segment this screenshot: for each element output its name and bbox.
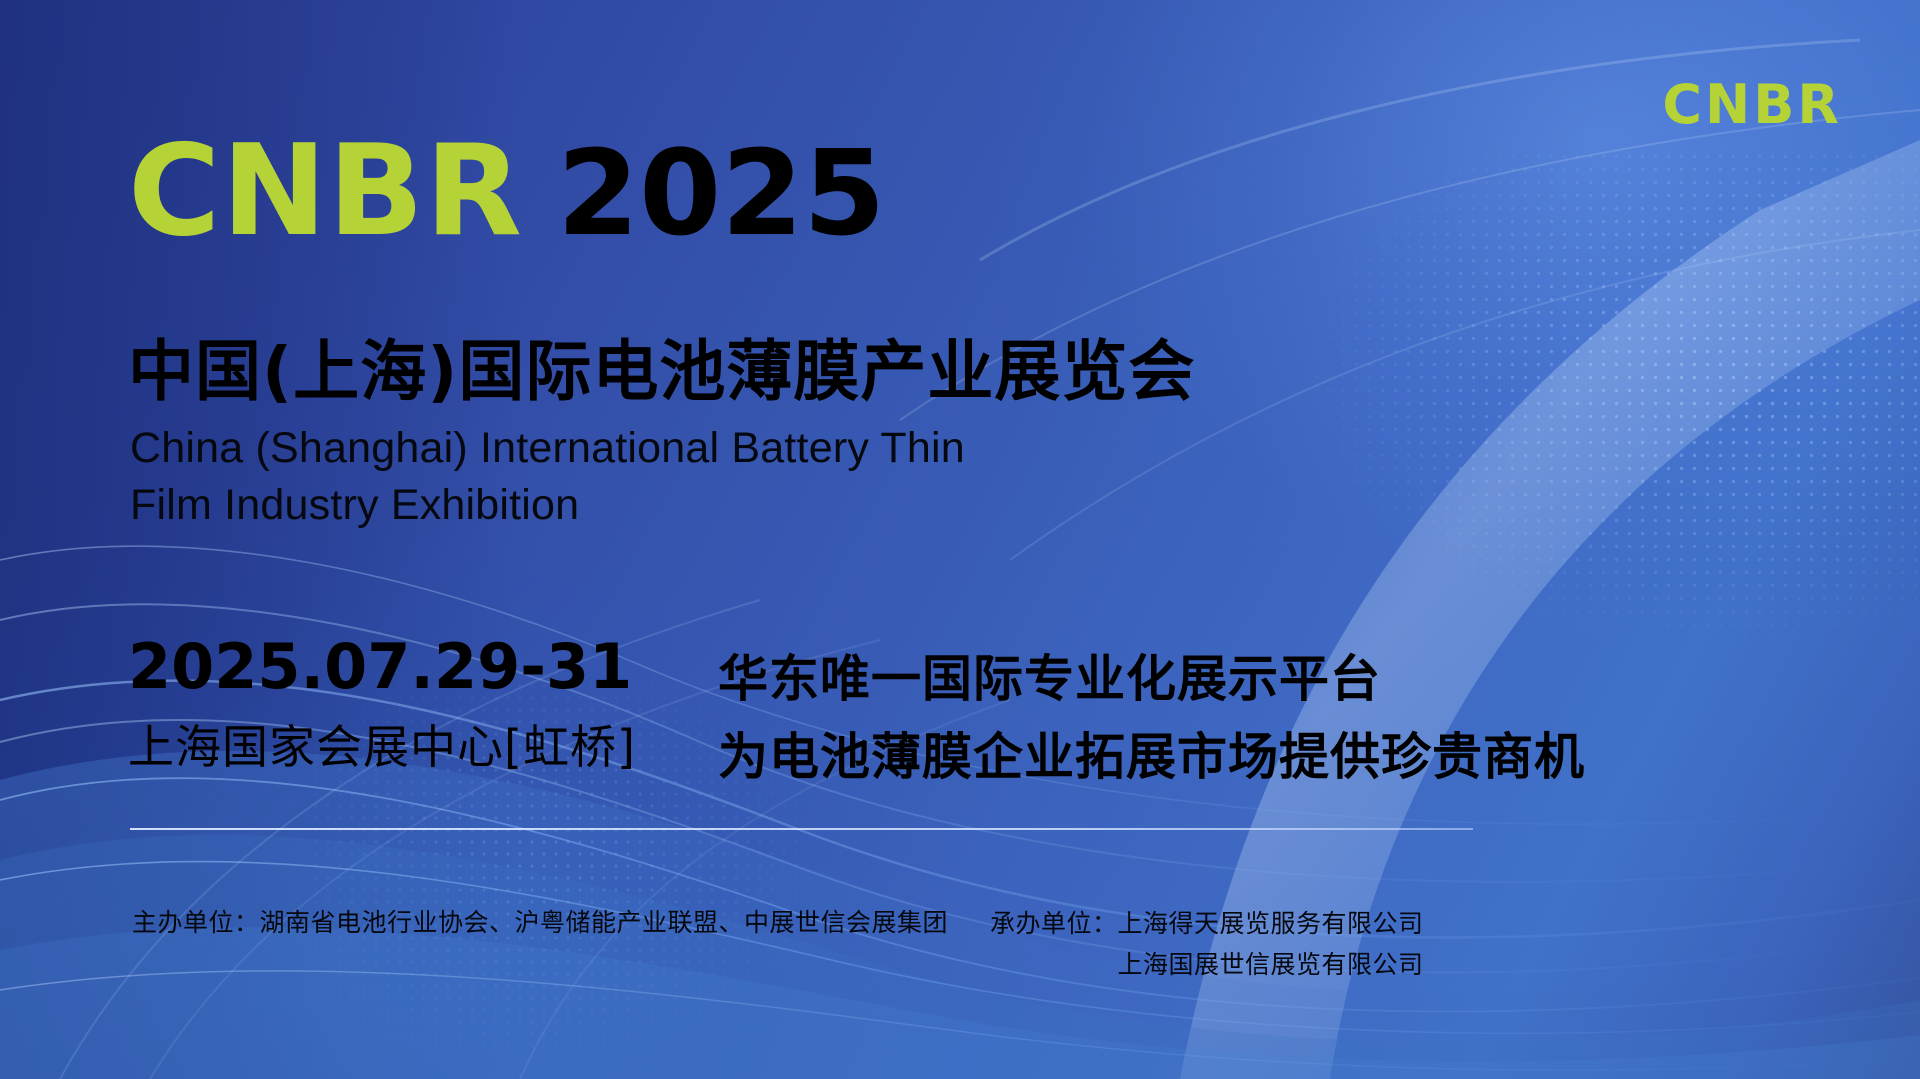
co-organizer-line-2: 上海国展世信展览有限公司 (990, 944, 1424, 985)
footer-organizer: 主办单位：湖南省电池行业协会、沪粤储能产业联盟、中展世信会展集团 (132, 903, 948, 939)
cnbr-logo-badge: CNBR (1662, 78, 1842, 132)
exhibition-poster: CNBR CNBR 2025 中国(上海)国际电池薄膜产业展览会 China (… (0, 0, 1920, 1079)
english-title-line-2: Film Industry Exhibition (130, 477, 965, 534)
co-organizer-line-1: 承办单位：上海得天展览服务有限公司 (990, 909, 1424, 938)
poster-content: CNBR CNBR 2025 中国(上海)国际电池薄膜产业展览会 China (… (0, 0, 1920, 1079)
footer-co-organizer: 承办单位：上海得天展览服务有限公司 上海国展世信展览有限公司 (990, 903, 1424, 986)
event-venue: 上海国家会展中心[虹桥] (128, 722, 636, 773)
footer-divider (130, 828, 1473, 830)
headline-year: 2025 (557, 134, 885, 252)
tagline-line-1: 华东唯一国际专业化展示平台 (718, 640, 1585, 718)
event-date: 2025.07.29-31 (128, 636, 636, 698)
exhibition-title-chinese: 中国(上海)国际电池薄膜产业展览会 (128, 318, 1195, 414)
exhibition-title-english: China (Shanghai) International Battery T… (130, 420, 965, 534)
tagline-block: 华东唯一国际专业化展示平台 为电池薄膜企业拓展市场提供珍贵商机 (718, 640, 1585, 795)
headline-block: CNBR 2025 (128, 128, 885, 254)
headline-acronym: CNBR (128, 128, 523, 254)
event-date-venue-block: 2025.07.29-31 上海国家会展中心[虹桥] (128, 636, 636, 773)
english-title-line-1: China (Shanghai) International Battery T… (130, 420, 965, 477)
tagline-line-2: 为电池薄膜企业拓展市场提供珍贵商机 (718, 718, 1585, 796)
